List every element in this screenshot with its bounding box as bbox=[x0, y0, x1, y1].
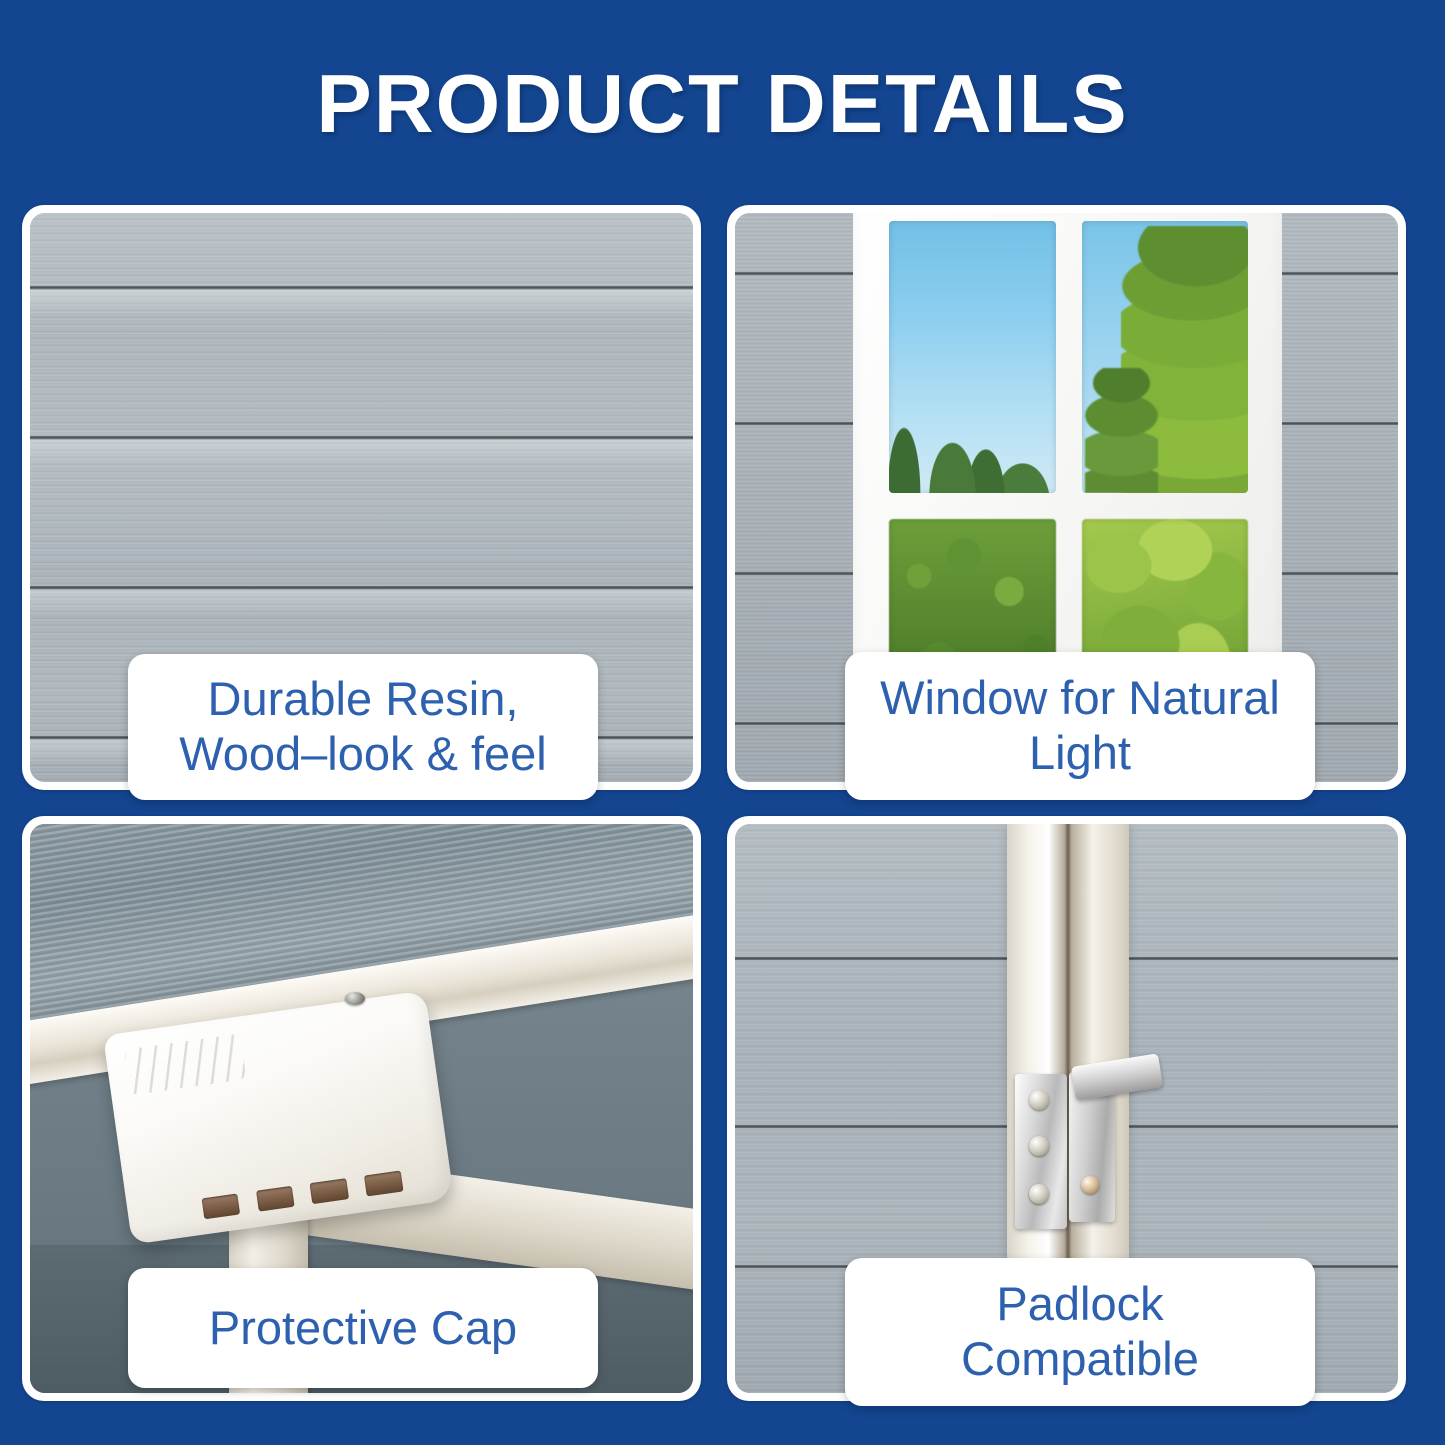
cap-vent-slot bbox=[256, 1185, 295, 1211]
hasp-rivet bbox=[1029, 1184, 1049, 1204]
protective-cap-photo bbox=[103, 990, 454, 1244]
label-durable-resin: Durable Resin, Wood–look & feel bbox=[128, 654, 598, 800]
label-padlock: Padlock Compatible bbox=[845, 1258, 1315, 1406]
window-pane-sky bbox=[889, 221, 1056, 493]
cap-ribs bbox=[125, 1033, 247, 1095]
cap-vent-slot bbox=[310, 1178, 349, 1204]
siding-seam bbox=[1280, 421, 1398, 426]
hasp-rivet bbox=[1029, 1136, 1049, 1156]
distant-trees bbox=[889, 422, 1056, 493]
cap-vent-slot bbox=[201, 1193, 240, 1219]
wall-left bbox=[735, 213, 855, 782]
product-details-infographic: PRODUCT DETAILS bbox=[0, 0, 1445, 1445]
padlock-hasp-photo bbox=[1015, 1074, 1067, 1229]
siding-sheen bbox=[30, 440, 693, 466]
label-window: Window for Natural Light bbox=[845, 652, 1315, 800]
siding-seam bbox=[1280, 571, 1398, 576]
siding-sheen bbox=[30, 290, 693, 316]
siding-sheen bbox=[30, 590, 693, 616]
page-title: PRODUCT DETAILS bbox=[0, 62, 1445, 145]
feature-panel-grid bbox=[22, 205, 1423, 1401]
siding-seam bbox=[735, 421, 855, 426]
siding-seam bbox=[735, 571, 855, 576]
cap-vent-slot bbox=[364, 1170, 403, 1196]
hasp-rivet bbox=[1029, 1090, 1049, 1110]
label-protective-cap: Protective Cap bbox=[128, 1268, 598, 1388]
screw-icon bbox=[345, 992, 365, 1005]
siding-seam bbox=[735, 271, 855, 276]
siding-seam bbox=[735, 721, 855, 726]
conifer-tree-small bbox=[1085, 368, 1158, 493]
window-pane-conifer bbox=[1082, 221, 1249, 493]
hasp-rivet-brass bbox=[1081, 1176, 1099, 1194]
siding-seam bbox=[1280, 271, 1398, 276]
